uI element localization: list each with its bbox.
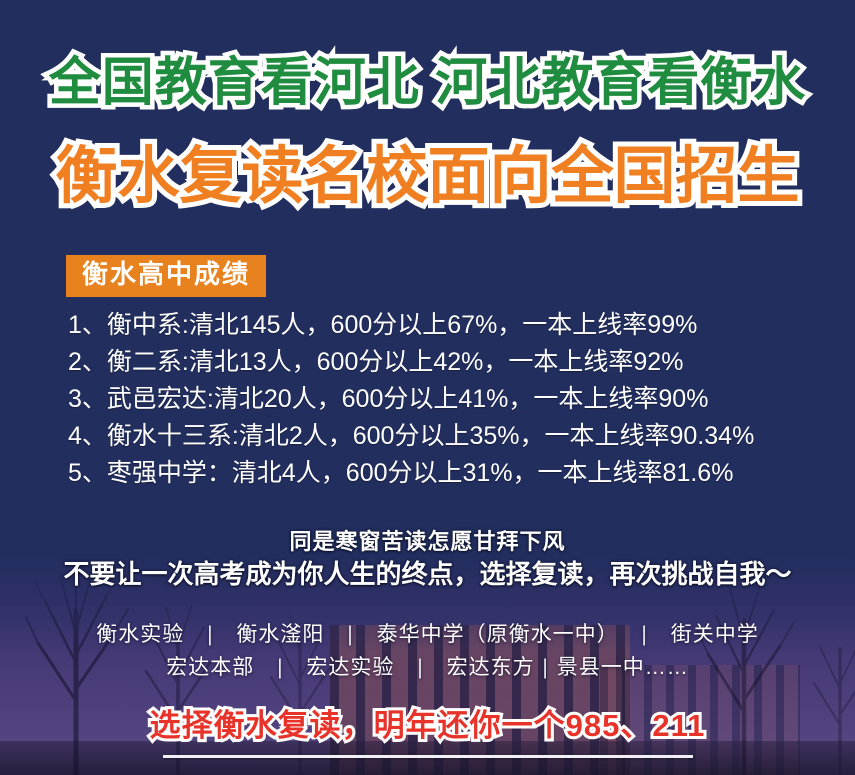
headline-orange: 衡水复读名校面向全国招生 [0,125,855,215]
score-list-item: 2、衡二系:清北13人，600分以上42%，一本上线率92% [68,344,855,381]
slogan-secondary: 不要让一次高考成为你人生的终点，选择复读，再次挑战自我～ [0,554,855,591]
school-row: 宏达本部 | 宏达实验 | 宏达东方 | 景县一中…… [0,651,855,684]
school-separator: | [401,656,439,679]
school-name: 泰华中学（原衡水一中） [377,618,619,651]
score-list-item: 4、衡水十三系:清北2人，600分以上35%，一本上线率90.34% [68,418,855,455]
headline-green: 全国教育看河北 河北教育看衡水 [0,40,855,115]
school-separator: | [261,656,299,679]
school-name: 宏达本部 [166,651,254,684]
score-list: 1、衡中系:清北145人，600分以上67%，一本上线率99% 2、衡二系:清北… [68,307,855,492]
poster-content: 全国教育看河北 河北教育看衡水 衡水复读名校面向全国招生 衡水高中成绩 1、衡中… [0,0,855,775]
cta-text: 选择衡水复读，明年还你一个985、211 [0,700,855,745]
school-name: 宏达实验 [306,651,394,684]
school-name: 衡水滏阳 [236,618,324,651]
cta-underline [163,755,693,758]
poster-root: 全国教育看河北 河北教育看衡水 衡水复读名校面向全国招生 衡水高中成绩 1、衡中… [0,0,855,775]
school-separator: | [191,623,229,646]
school-name: 景县一中…… [557,651,689,684]
section-badge-scores: 衡水高中成绩 [66,255,266,297]
school-separator: | [625,623,663,646]
school-list: 衡水实验 | 衡水滏阳 | 泰华中学（原衡水一中） | 街关中学 宏达本部 | … [0,618,855,684]
school-name: 街关中学 [671,618,759,651]
score-list-item: 3、武邑宏达:清北20人，600分以上41%，一本上线率90% [68,381,855,418]
school-row: 衡水实验 | 衡水滏阳 | 泰华中学（原衡水一中） | 街关中学 [0,618,855,651]
score-list-item: 5、枣强中学：清北4人，600分以上31%，一本上线率81.6% [68,455,855,492]
school-name: 宏达东方 [447,651,535,684]
school-separator: | [331,623,369,646]
school-separator: | [541,656,549,679]
score-list-item: 1、衡中系:清北145人，600分以上67%，一本上线率99% [68,307,855,344]
slogan-primary: 同是寒窗苦读怎愿甘拜下风 [0,524,855,556]
school-name: 衡水实验 [96,618,184,651]
